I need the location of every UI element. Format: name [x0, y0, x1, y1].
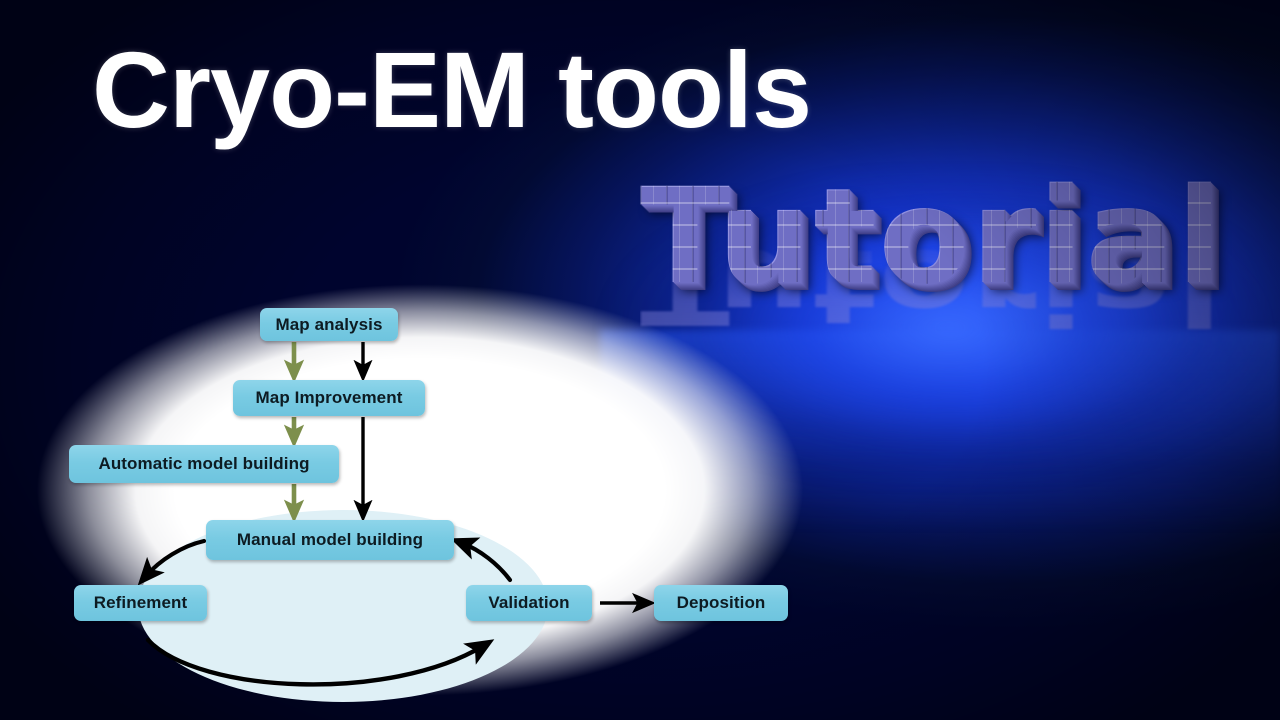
diagram-arrows: [0, 262, 840, 720]
workflow-diagram: Map analysis Map Improvement Automatic m…: [0, 262, 840, 720]
slide-title: Cryo-EM tools: [92, 30, 811, 151]
edge-validation-to-manual-build: [462, 543, 510, 580]
edge-manual-build-to-refinement: [146, 541, 204, 576]
node-map-improvement[interactable]: Map Improvement: [233, 380, 425, 416]
edge-refinement-to-validation: [148, 640, 483, 684]
diagram-content: Map analysis Map Improvement Automatic m…: [0, 262, 840, 720]
node-map-analysis[interactable]: Map analysis: [260, 308, 398, 341]
node-automatic-model-building[interactable]: Automatic model building: [69, 445, 339, 483]
node-manual-model-building[interactable]: Manual model building: [206, 520, 454, 560]
node-deposition[interactable]: Deposition: [654, 585, 788, 621]
node-validation[interactable]: Validation: [466, 585, 592, 621]
slide-canvas: Tutorial Tutorial Tutorial Cryo-EM tools: [0, 0, 1280, 720]
node-refinement[interactable]: Refinement: [74, 585, 207, 621]
